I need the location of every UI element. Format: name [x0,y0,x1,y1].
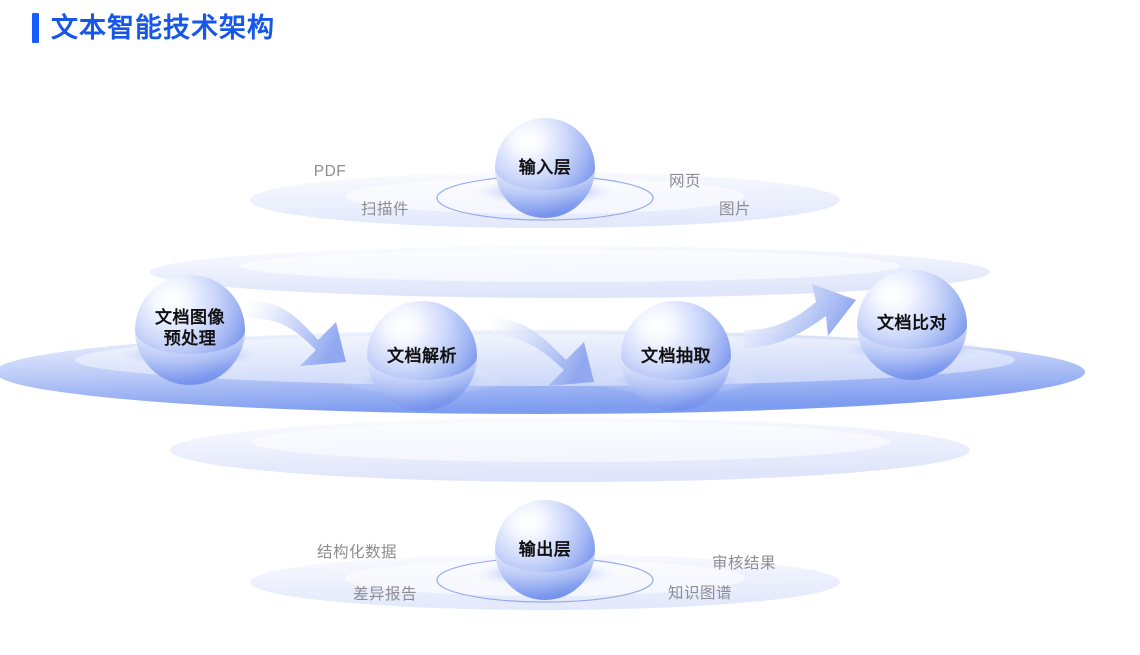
diagram-canvas: 文本智能技术架构 [0,0,1140,655]
input-tag-pdf: PDF [314,163,347,181]
output-tag-audit-result: 审核结果 [712,551,776,573]
input-tag-image: 图片 [719,197,751,219]
lower-connector-band [170,418,970,482]
output-tag-diff-report: 差异报告 [353,582,417,604]
output-layer-label: 输出层 [519,540,572,560]
output-tag-knowledge-graph: 知识图谱 [668,581,732,603]
node-sphere-parse [367,301,477,411]
node-sphere-preprocess [135,275,245,385]
input-tag-scan: 扫描件 [361,197,409,219]
upper-connector-band [150,246,990,298]
input-tag-webpage: 网页 [669,169,701,191]
output-tag-structured-data: 结构化数据 [317,540,397,562]
node-sphere-extract [621,301,731,411]
input-layer-label: 输入层 [519,158,572,178]
node-sphere-compare [857,270,967,380]
